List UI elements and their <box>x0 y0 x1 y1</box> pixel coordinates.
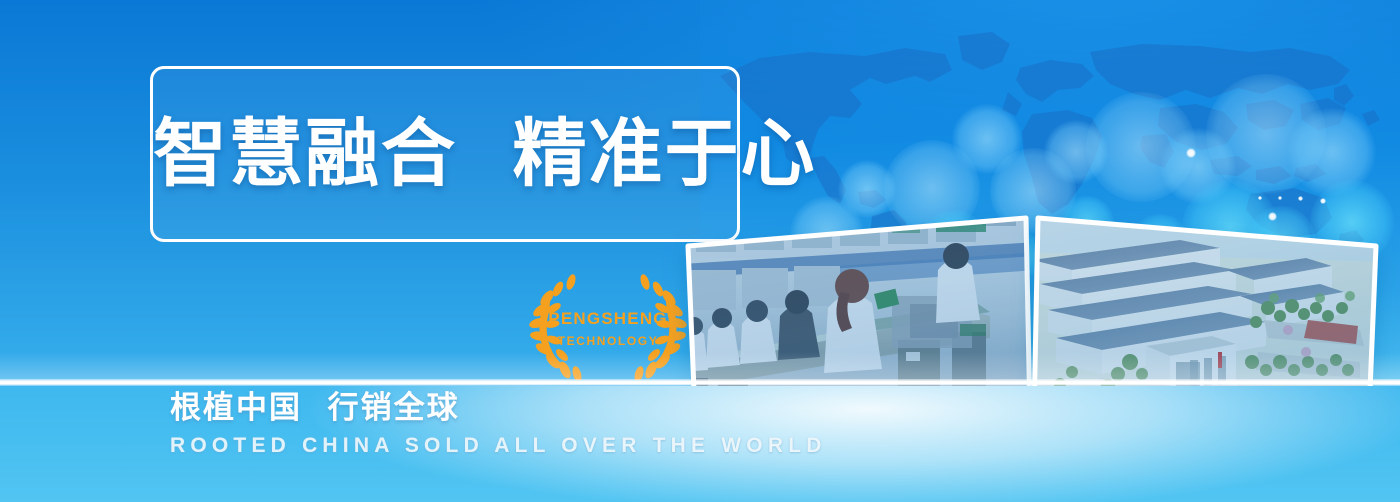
headline-frame: 智慧融合 精准于心 <box>150 66 740 242</box>
horizontal-divider <box>0 379 1400 386</box>
badge-name: PENGSHENG <box>548 309 667 328</box>
page-title: 智慧融合 精准于心 <box>153 117 737 191</box>
promotional-banner: 智慧融合 精准于心 <box>0 0 1400 502</box>
badge-subtitle: TECHNOLOGY <box>558 334 659 348</box>
slogan-english: ROOTED CHINA SOLD ALL OVER THE WORLD <box>170 434 827 458</box>
slogan: 根植中国 行销全球 ROOTED CHINA SOLD ALL OVER THE… <box>170 392 827 458</box>
divider-glow <box>0 352 1400 382</box>
slogan-chinese: 根植中国 行销全球 <box>170 392 827 425</box>
